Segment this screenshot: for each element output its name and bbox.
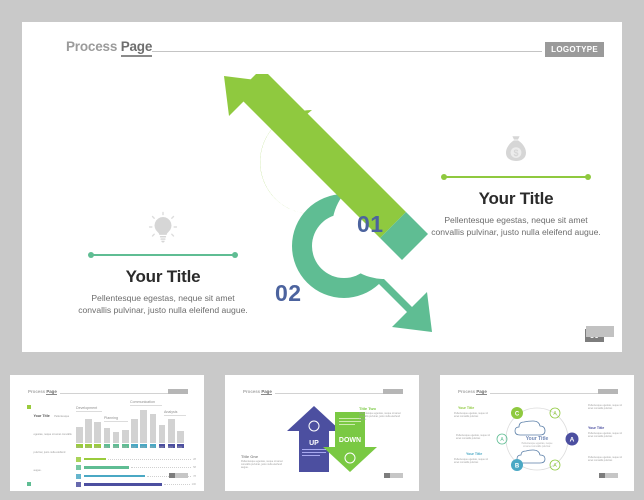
up-label: UP bbox=[309, 440, 319, 447]
step-one-number: 01 bbox=[357, 211, 384, 238]
thumb2-body-one: Pellentesque egestas, neque sit amet con… bbox=[241, 460, 283, 469]
list-item: 100 bbox=[76, 482, 196, 488]
h-bar bbox=[84, 475, 145, 478]
thumb3-body-6: Pellentesque egestas, neque sit amet con… bbox=[456, 434, 492, 440]
left-divider bbox=[77, 251, 249, 259]
thumb3-diagram: Your Title Pellentesque egestas, neque s… bbox=[494, 399, 580, 479]
thumb3-label-2: Your Title bbox=[466, 452, 482, 456]
thumb2-title-two: Title Two bbox=[359, 406, 376, 411]
thumb3-body-4: Pellentesque egestas, neque sit amet con… bbox=[588, 404, 624, 410]
svg-text:B: B bbox=[515, 463, 520, 469]
svg-text:$: $ bbox=[513, 148, 518, 158]
thumb3-label-1: Your Title bbox=[458, 406, 474, 410]
thumb3-label-3: Your Title bbox=[588, 426, 604, 430]
row-icon bbox=[76, 465, 81, 470]
row-icon bbox=[76, 482, 81, 487]
brand-bold: Page bbox=[121, 39, 152, 57]
chart-bar: 2021 bbox=[168, 419, 175, 443]
thumb2-canvas: Process Page UP DOWN bbox=[233, 382, 411, 484]
right-text-block: $ Your Title Pellentesque egestas, neque… bbox=[430, 129, 602, 238]
page-number-badge: 50 bbox=[585, 329, 604, 342]
chart-bar: 2017 bbox=[131, 419, 138, 443]
svg-text:A: A bbox=[553, 411, 557, 417]
svg-text:A: A bbox=[553, 463, 557, 469]
thumb3-page-badge bbox=[599, 473, 619, 478]
thumb3-body-2: Pellentesque egestas, neque sit amet con… bbox=[454, 458, 490, 464]
thumb2-brand: Process Page bbox=[243, 389, 272, 394]
chart-bar-label: 2020 bbox=[159, 447, 164, 449]
thumbnail-up-down[interactable]: Process Page UP DOWN bbox=[225, 375, 419, 491]
page-badge-bar bbox=[586, 326, 614, 337]
chart-bar: 2013 bbox=[94, 422, 101, 443]
chart-bar: 2022 bbox=[177, 431, 184, 443]
legend-swatch bbox=[27, 405, 31, 409]
thumb2-page-badge bbox=[384, 473, 404, 478]
chart-bar-label: 2013 bbox=[94, 447, 99, 449]
step-two-number: 02 bbox=[275, 280, 302, 307]
right-body: Pellentesque egestas, neque sit amet con… bbox=[430, 214, 602, 238]
h-bar-value: 28 bbox=[193, 458, 196, 461]
chart-bar-label: 2018 bbox=[140, 447, 145, 449]
svg-text:A: A bbox=[570, 437, 575, 444]
list-item: 28 bbox=[76, 456, 196, 462]
chart-bar: 2018 bbox=[140, 410, 147, 443]
chart-bar-label: 2021 bbox=[168, 447, 173, 449]
thumb2-logotype bbox=[383, 389, 403, 394]
chart-bar: 2015 bbox=[113, 432, 120, 443]
thumb1-brand-prefix: Process bbox=[28, 389, 46, 394]
list-item: 58 bbox=[76, 465, 196, 471]
chart-bar-label: 2022 bbox=[177, 447, 182, 449]
thumb3-canvas: Process Page Your Title Pellentesque ege… bbox=[448, 382, 626, 484]
thumb2-body-two: Pellentesque egestas, neque sit amet con… bbox=[359, 412, 401, 421]
svg-text:C: C bbox=[515, 411, 520, 417]
chart-bar-label: 2011 bbox=[76, 447, 81, 449]
thumbnail-bar-chart[interactable]: Process Page Your Title Pellentesque ege… bbox=[10, 375, 204, 491]
legend-title: Your Title bbox=[34, 414, 50, 418]
chart-group-label: Communication bbox=[130, 400, 155, 404]
thumb3-brand-bold: Page bbox=[476, 389, 487, 395]
h-bar-value: 58 bbox=[193, 466, 196, 469]
row-dots bbox=[108, 459, 191, 460]
chart-group-label: Planning bbox=[104, 416, 118, 420]
left-body: Pellentesque egestas, neque sit amet con… bbox=[77, 292, 249, 316]
row-icon bbox=[76, 457, 81, 462]
presentation-deck: Process Page LOGOTYPE bbox=[0, 0, 644, 500]
thumb1-legend: Your Title Pellentesque egestas, neque s… bbox=[27, 404, 72, 491]
thumb3-rule bbox=[490, 393, 598, 394]
thumb1-brand: Process Page bbox=[28, 389, 57, 394]
thumb3-brand-prefix: Process bbox=[458, 389, 476, 394]
chart-bar-label: 2016 bbox=[122, 447, 127, 449]
h-bar bbox=[84, 483, 162, 486]
chart-bar: 2016 bbox=[122, 430, 129, 443]
thumb3-brand: Process Page bbox=[458, 389, 487, 394]
chart-bar: 2019 bbox=[150, 414, 157, 443]
thumb3-body-5: Pellentesque egestas, neque sit amet con… bbox=[588, 456, 624, 462]
legend-desc: Pellentesque egestas, neque sit amet con… bbox=[34, 415, 72, 472]
chart-bar: 2014 bbox=[104, 428, 111, 443]
chart-bar: 2012 bbox=[85, 419, 92, 443]
left-text-block: Your Title Pellentesque egestas, neque s… bbox=[77, 207, 249, 316]
svg-text:sit amet convallis pulvinar.: sit amet convallis pulvinar. bbox=[523, 445, 551, 448]
legend-swatch bbox=[27, 482, 31, 486]
thumb1-page-badge bbox=[169, 473, 189, 478]
chart-bar-label: 2019 bbox=[150, 447, 155, 449]
thumb2-title-one: Title One bbox=[241, 454, 258, 459]
h-bar bbox=[84, 458, 106, 461]
header-divider bbox=[152, 51, 542, 52]
right-title: Your Title bbox=[430, 189, 602, 209]
thumb2-brand-bold: Page bbox=[261, 389, 272, 395]
list-item: Your Title Pellentesque egestas, neque s… bbox=[27, 404, 72, 476]
thumbnail-circular-process[interactable]: Process Page Your Title Pellentesque ege… bbox=[440, 375, 634, 491]
down-label: DOWN bbox=[339, 437, 361, 444]
chart-bar-label: 2012 bbox=[85, 447, 90, 449]
thumb1-canvas: Process Page Your Title Pellentesque ege… bbox=[18, 382, 196, 484]
lightbulb-icon bbox=[77, 207, 249, 245]
brand-prefix: Process bbox=[66, 39, 121, 54]
brand-title: Process Page bbox=[66, 39, 152, 54]
money-bag-icon: $ bbox=[430, 129, 602, 167]
chart-group-label: Analysis bbox=[164, 410, 177, 414]
chart-bar-label: 2014 bbox=[104, 447, 109, 449]
chart-bar-label: 2015 bbox=[113, 447, 118, 449]
thumb1-logotype bbox=[168, 389, 188, 394]
h-bar-value: 78 bbox=[193, 475, 196, 478]
thumb3-logotype bbox=[598, 389, 618, 394]
chart-bar: 2020 bbox=[159, 425, 166, 443]
thumb2-brand-prefix: Process bbox=[243, 389, 261, 394]
row-dots bbox=[164, 484, 190, 485]
h-bar bbox=[84, 466, 129, 469]
thumb2-rule bbox=[275, 393, 383, 394]
logotype-badge: LOGOTYPE bbox=[545, 42, 604, 57]
chart-bar-label: 2017 bbox=[131, 447, 136, 449]
thumb3-body-1: Pellentesque egestas, neque sit amet con… bbox=[454, 412, 490, 418]
h-bar-value: 100 bbox=[192, 483, 196, 486]
thumb1-rule bbox=[60, 393, 168, 394]
thumb1-brand-bold: Page bbox=[46, 389, 57, 395]
thumbnail-strip: Process Page Your Title Pellentesque ege… bbox=[0, 367, 644, 500]
chart-group-label: Development bbox=[76, 406, 97, 410]
svg-text:A: A bbox=[500, 437, 504, 443]
row-dots bbox=[131, 467, 191, 468]
chart-bar: 2011 bbox=[76, 427, 83, 443]
right-divider bbox=[430, 173, 602, 181]
left-title: Your Title bbox=[77, 267, 249, 287]
thumb3-body-3: Pellentesque egestas, neque sit amet con… bbox=[588, 432, 624, 438]
slide-header: Process Page LOGOTYPE bbox=[22, 22, 622, 62]
thumb1-bar-chart: 2011201220132014201520162017201820192020… bbox=[76, 406, 188, 448]
list-item: Your Title Pellentesque egestas, neque s… bbox=[27, 482, 72, 492]
main-slide: Process Page LOGOTYPE bbox=[22, 22, 622, 352]
row-icon bbox=[76, 474, 81, 479]
